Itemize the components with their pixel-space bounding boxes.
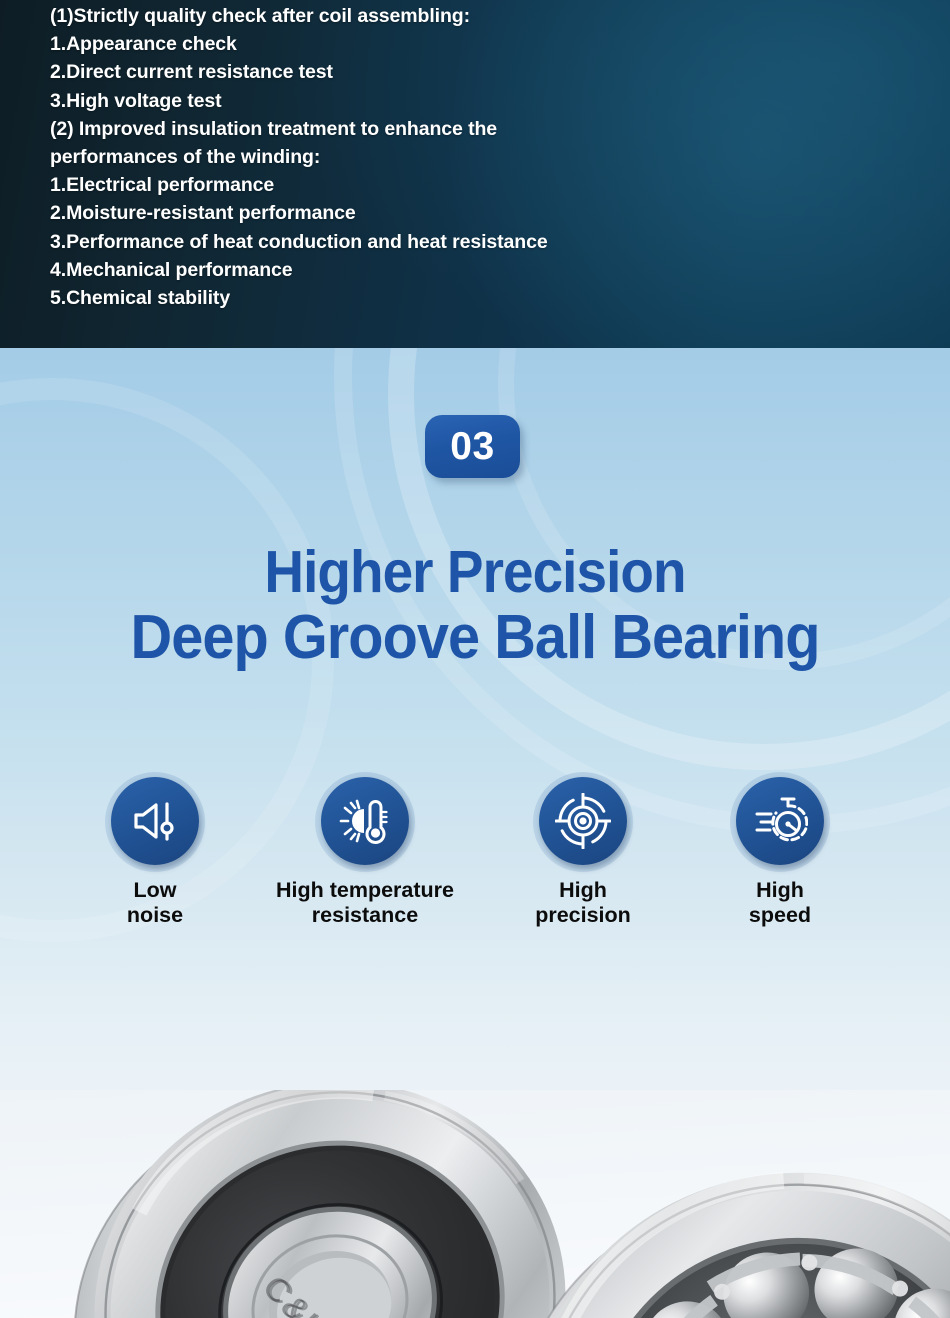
feature-item-high-speed: High speed bbox=[680, 772, 880, 928]
feature-list: Low noise bbox=[0, 772, 950, 952]
spec-line: 3.High voltage test bbox=[50, 87, 910, 115]
spec-list: (1)Strictly quality check after coil ass… bbox=[50, 2, 910, 312]
spec-line: 3.Performance of heat conduction and hea… bbox=[50, 228, 910, 256]
product-photo-bearings: C&U C&U bbox=[0, 1090, 950, 1318]
spec-line: 4.Mechanical performance bbox=[50, 256, 910, 284]
feature-icon-badge bbox=[315, 772, 415, 872]
feature-label: Low noise bbox=[55, 878, 255, 928]
speaker-volume-icon bbox=[111, 777, 199, 865]
stopwatch-speed-icon bbox=[736, 777, 824, 865]
feature-icon-badge bbox=[105, 772, 205, 872]
spec-line: (1)Strictly quality check after coil ass… bbox=[50, 2, 910, 30]
target-crosshair-icon bbox=[539, 777, 627, 865]
spec-line: (2) Improved insulation treatment to enh… bbox=[50, 115, 910, 143]
feature-item-high-precision: High precision bbox=[483, 772, 683, 928]
page-title-line-2: Deep Groove Ball Bearing bbox=[33, 605, 917, 670]
page-title: Higher Precision Deep Groove Ball Bearin… bbox=[33, 540, 917, 670]
page-title-line-1: Higher Precision bbox=[33, 540, 917, 605]
feature-item-high-temperature-resistance: High temperature resistance bbox=[240, 772, 490, 928]
section-number-badge: 03 bbox=[425, 415, 520, 478]
sun-thermometer-icon bbox=[321, 777, 409, 865]
feature-icon-badge bbox=[730, 772, 830, 872]
feature-label: High speed bbox=[680, 878, 880, 928]
section-number-text: 03 bbox=[450, 427, 494, 466]
spec-line: 2.Direct current resistance test bbox=[50, 58, 910, 86]
page-root: (1)Strictly quality check after coil ass… bbox=[0, 0, 950, 1318]
spec-line: performances of the winding: bbox=[50, 143, 910, 171]
spec-line: 2.Moisture-resistant performance bbox=[50, 199, 910, 227]
feature-label: High precision bbox=[483, 878, 683, 928]
feature-label: High temperature resistance bbox=[240, 878, 490, 928]
spec-line: 5.Chemical stability bbox=[50, 284, 910, 312]
spec-line: 1.Electrical performance bbox=[50, 171, 910, 199]
spec-line: 1.Appearance check bbox=[50, 30, 910, 58]
feature-item-low-noise: Low noise bbox=[55, 772, 255, 928]
spec-panel: (1)Strictly quality check after coil ass… bbox=[0, 0, 950, 348]
feature-icon-badge bbox=[533, 772, 633, 872]
